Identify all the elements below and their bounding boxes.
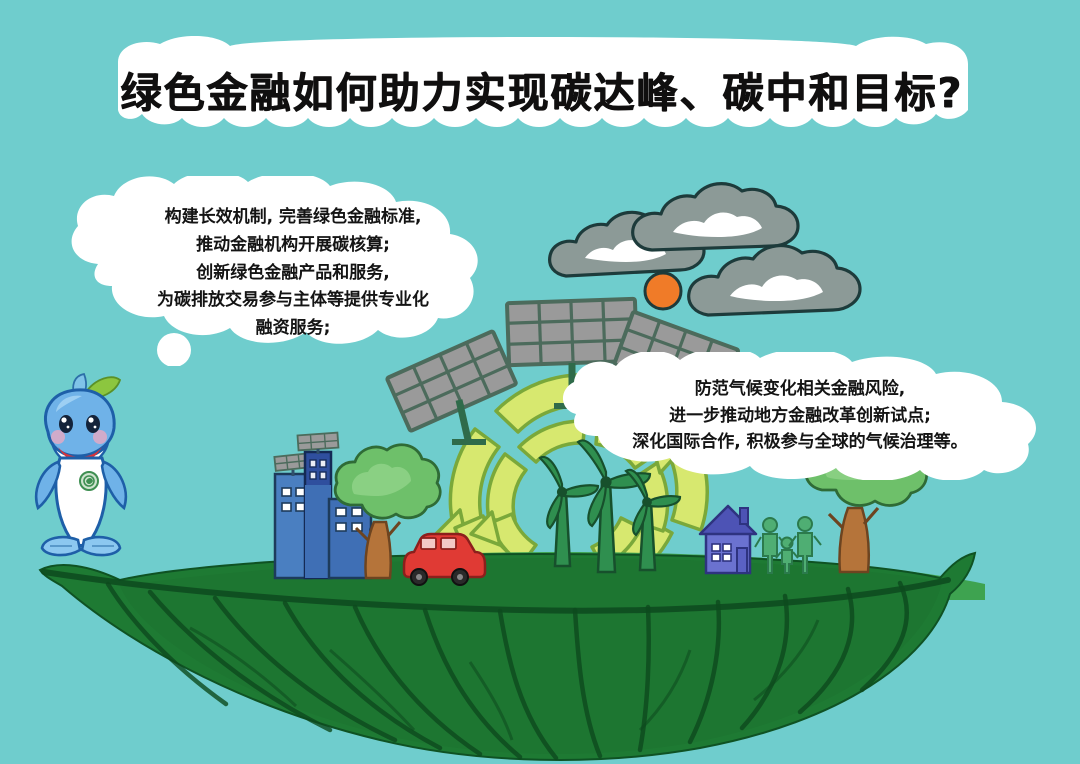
dolphin-mascot xyxy=(0,0,1080,764)
mascot-eye xyxy=(86,415,100,433)
mascot-head xyxy=(46,390,115,456)
mascot-body xyxy=(56,458,106,546)
mascot-cheek xyxy=(51,430,65,444)
mascot-eye xyxy=(59,415,73,433)
poster-canvas: 绿色金融如何助力实现碳达峰、碳中和目标? 构建长效机制, 完善绿色金融标准, 推… xyxy=(0,0,1080,764)
mascot-badge xyxy=(80,472,98,490)
